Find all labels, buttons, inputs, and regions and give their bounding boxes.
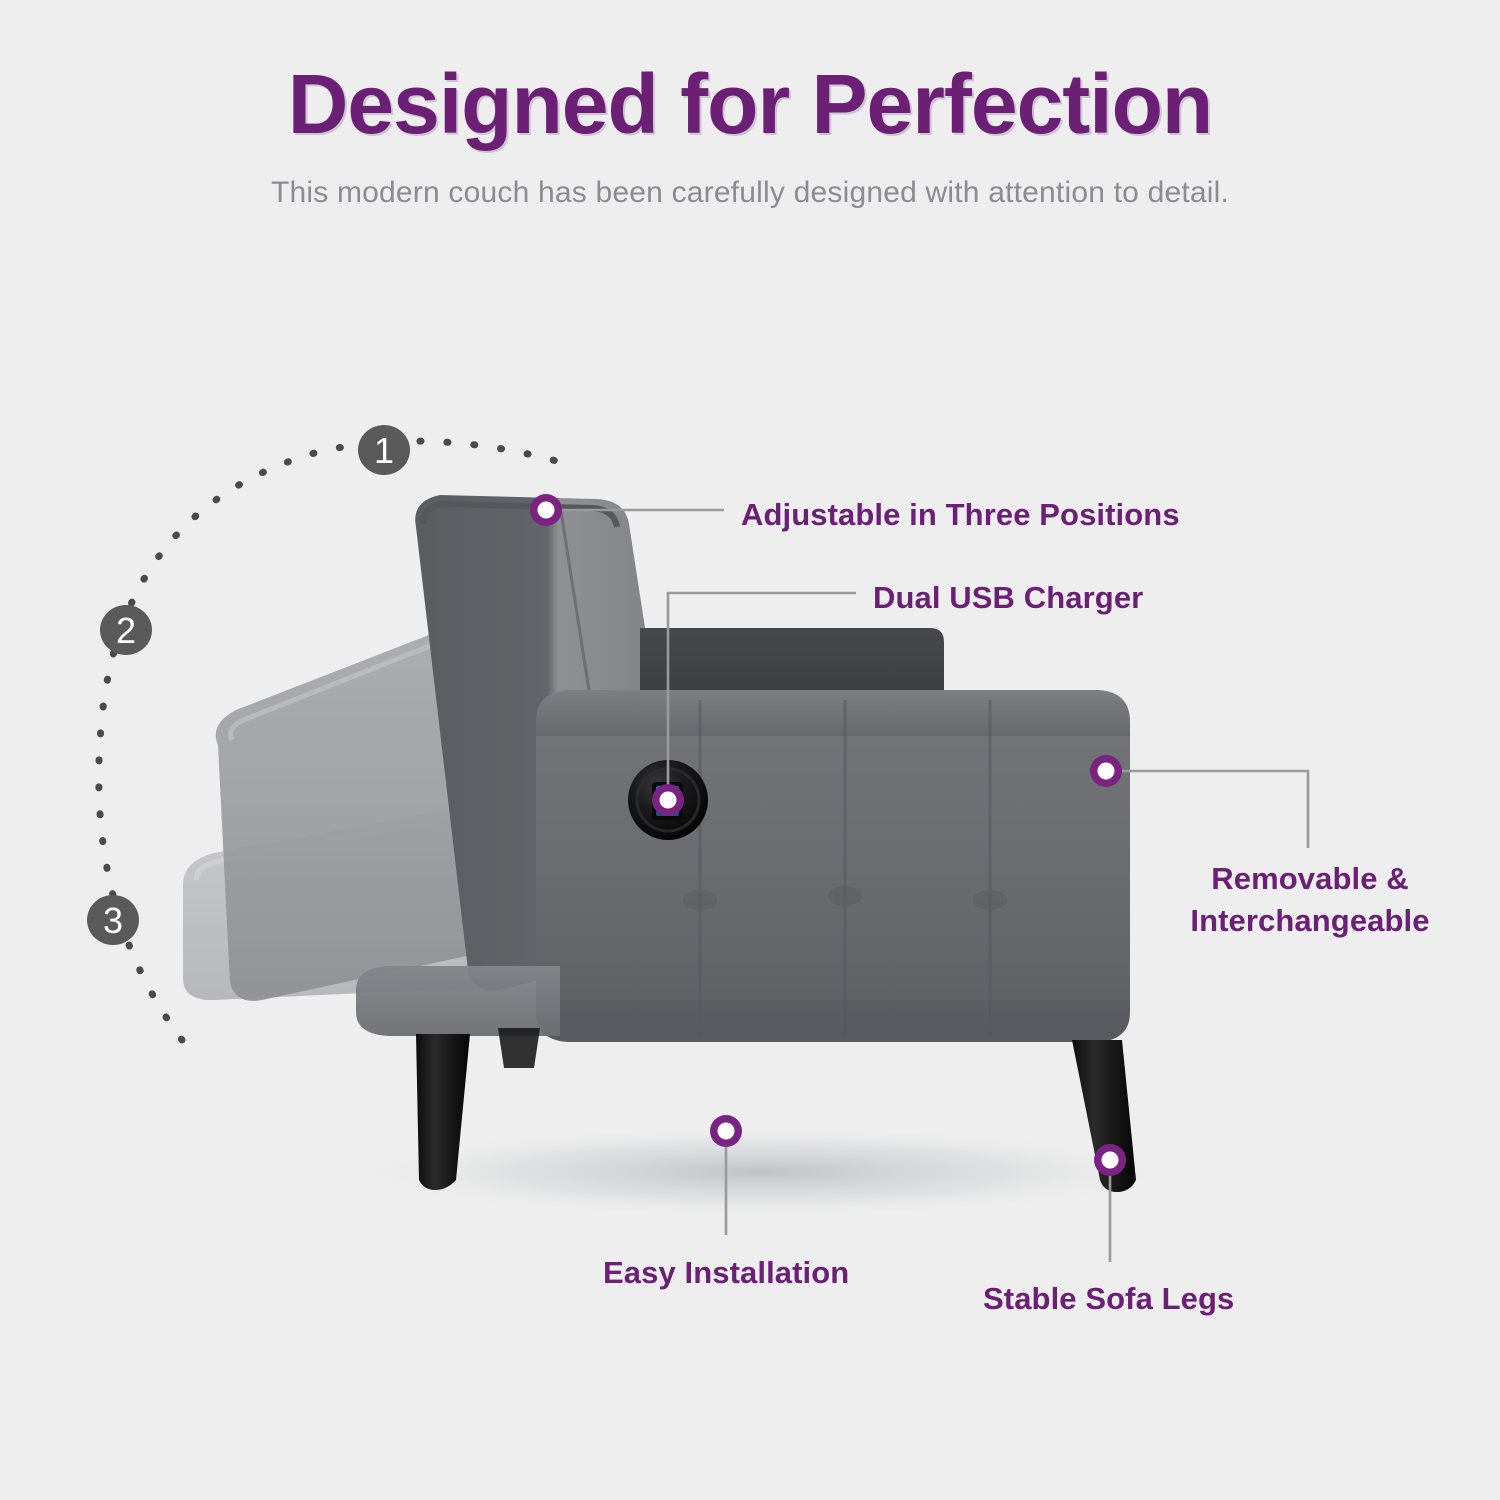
callout-label-stable-legs: Stable Sofa Legs	[983, 1278, 1234, 1320]
marker-adjustable	[530, 494, 562, 526]
position-badge-1-label: 1	[374, 430, 394, 471]
marker-usb	[652, 784, 684, 816]
position-badge-3-label: 3	[103, 900, 123, 941]
product-illustration: 1 2 3	[0, 0, 1500, 1500]
callout-label-usb-charger: Dual USB Charger	[873, 577, 1143, 619]
floor-shadow	[340, 1126, 1180, 1218]
infographic-canvas: Designed for Perfection This modern couc…	[0, 0, 1500, 1500]
marker-removable	[1090, 755, 1122, 787]
marker-easy-installation	[710, 1115, 742, 1147]
seat-front-slab	[356, 966, 560, 1036]
callout-label-easy-installation: Easy Installation	[603, 1252, 849, 1294]
leg-middle-small	[498, 1028, 540, 1068]
position-badge-3: 3	[87, 895, 139, 945]
callout-label-removable: Removable & Interchangeable	[1160, 858, 1460, 942]
position-badge-2-label: 2	[116, 610, 136, 651]
marker-stable-legs	[1094, 1144, 1126, 1176]
leader-line-removable	[1108, 771, 1308, 848]
position-badge-1: 1	[358, 425, 410, 475]
position-badge-2: 2	[100, 605, 152, 655]
seat-body	[536, 690, 1130, 1042]
callout-label-adjustable: Adjustable in Three Positions	[741, 494, 1180, 536]
